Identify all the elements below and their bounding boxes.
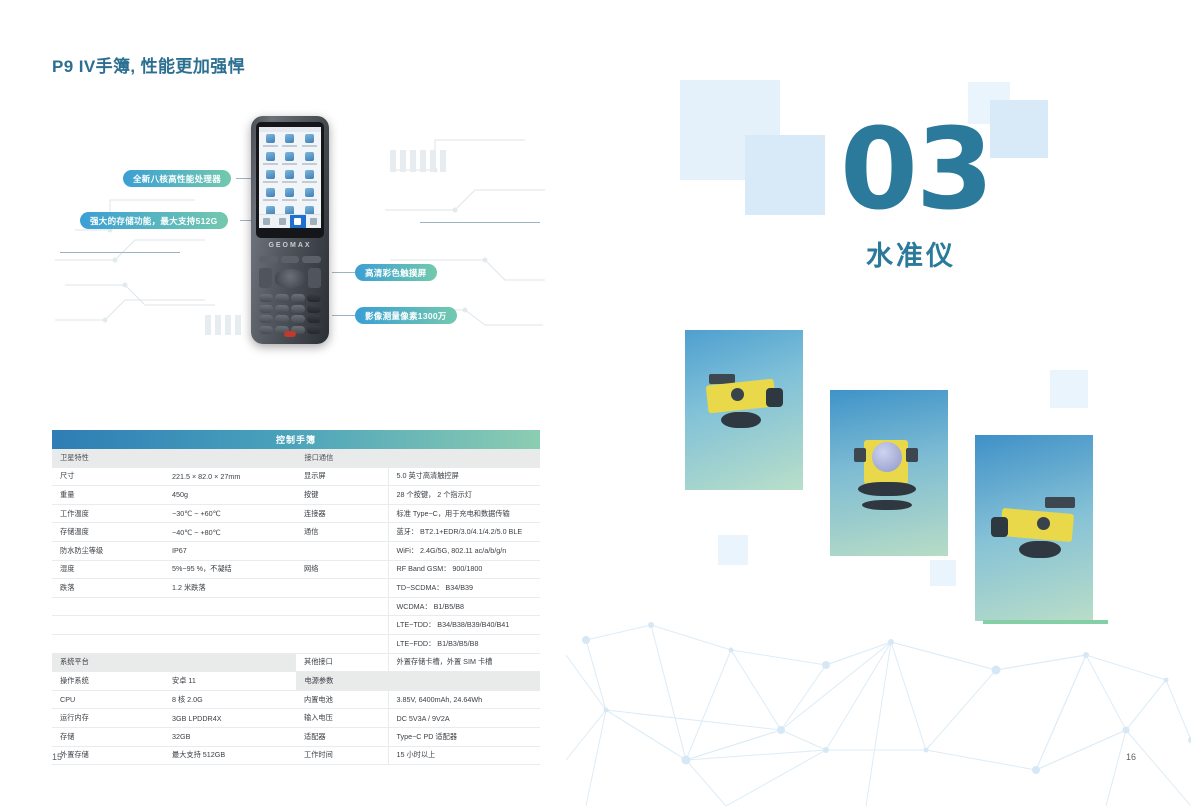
instrument-right-arm xyxy=(906,448,918,462)
instrument-left-arm xyxy=(854,448,866,462)
section-header-row-power: 操作系统 安卓 11 电源参数 xyxy=(52,672,540,691)
spec-key: 内置电池 xyxy=(296,690,388,709)
leader-line-long-left xyxy=(60,252,180,253)
callout-processor: 全新八核高性能处理器 xyxy=(123,170,231,187)
instrument-top-cover xyxy=(1045,497,1075,508)
spec-key xyxy=(52,597,164,616)
network-polygon-graphic xyxy=(566,610,1191,806)
app-icon xyxy=(261,134,280,151)
spec-key: 网络 xyxy=(296,560,388,579)
device-softkey-row xyxy=(259,256,321,263)
app-icon xyxy=(281,170,300,187)
screen-tab-bar xyxy=(259,214,321,228)
spec-value: −30℃ ~ +60℃ xyxy=(164,504,296,523)
spec-value: 32GB xyxy=(164,727,296,746)
page-number-right: 16 xyxy=(1126,752,1136,762)
table-row: 存储温度 −40℃ ~ +80℃ 通信 蓝牙： BT2.1+EDR/3.0/4.… xyxy=(52,523,540,542)
spec-key: 外置存储 xyxy=(52,746,164,765)
instrument-eyepiece xyxy=(766,388,783,407)
section-number: 03 xyxy=(840,122,992,218)
product-photo-level-branded xyxy=(975,435,1093,621)
app-icon xyxy=(261,170,280,187)
table-row: 工作温度 −30℃ ~ +60℃ 连接器 标准 Type−C，用于充电和数据传输 xyxy=(52,504,540,523)
spec-value xyxy=(164,616,296,635)
spec-value: RF Band GSM： 900/1800 xyxy=(388,560,540,579)
app-icon xyxy=(281,152,300,169)
spec-value: TD−SCDMA： B34/B39 xyxy=(388,579,540,598)
specification-table: 控制手簿 卫星特性 接口通信 尺寸 221.5 × 82.0 × 27mm 显示… xyxy=(52,430,540,765)
spec-value: WCDMA： B1/B5/B8 xyxy=(388,597,540,616)
spec-value: LTE−TDD： B34/B38/B39/B40/B41 xyxy=(388,616,540,635)
page-title: P9 IV手簿, 性能更加强悍 xyxy=(52,52,245,77)
table-title: 控制手簿 xyxy=(52,430,540,449)
decorative-square xyxy=(1050,370,1088,408)
spec-key xyxy=(296,597,388,616)
spec-value: 最大支持 512GB xyxy=(164,746,296,765)
spec-value: WiFi： 2.4G/5G, 802.11 ac/a/b/g/n xyxy=(388,541,540,560)
app-icon xyxy=(300,188,319,205)
brochure-spread: P9 IV手簿, 性能更加强悍 xyxy=(0,0,1191,806)
spec-key xyxy=(52,616,164,635)
spec-value: 3GB LPDDR4X xyxy=(164,709,296,728)
table-row: 重量 450g 按键 28 个按键， 2 个指示灯 xyxy=(52,486,540,505)
spec-value: 450g xyxy=(164,486,296,505)
app-icon xyxy=(281,188,300,205)
section-header-row-platform: 系统平台 其他接口 外置存储卡槽，外置 SIM 卡槽 xyxy=(52,653,540,672)
device-brand-label: GEOMAX xyxy=(251,242,329,249)
table-row: LTE−FDD： B1/B3/B5/B8 xyxy=(52,634,540,653)
section-header-row-top: 卫星特性 接口通信 xyxy=(52,449,540,467)
table-row: LTE−TDD： B34/B38/B39/B40/B41 xyxy=(52,616,540,635)
callout-display: 高清彩色触摸屏 xyxy=(355,264,437,281)
instrument-base-front xyxy=(858,482,916,496)
table-row: 尺寸 221.5 × 82.0 × 27mm 显示屏 5.0 英寸高清触控屏 xyxy=(52,467,540,486)
leader-line-long-right xyxy=(420,222,540,223)
device-screen xyxy=(259,127,321,228)
spec-value: 标准 Type−C，用于充电和数据传输 xyxy=(388,504,540,523)
spec-value: 8 核 2.0G xyxy=(164,690,296,709)
section-label-platform: 系统平台 xyxy=(52,653,296,672)
spec-value: 3.85V, 6400mAh, 24.64Wh xyxy=(388,690,540,709)
device-screen-bezel xyxy=(256,122,324,238)
spec-key: 输入电压 xyxy=(296,709,388,728)
spec-value xyxy=(164,597,296,616)
spec-value: Type−C PD 适配器 xyxy=(388,727,540,746)
spec-value: 28 个按键， 2 个指示灯 xyxy=(388,486,540,505)
table-row: WCDMA： B1/B5/B8 xyxy=(52,597,540,616)
callout-storage: 强大的存储功能，最大支持512G xyxy=(80,212,228,229)
spec-key xyxy=(296,541,388,560)
spec-key: 按键 xyxy=(296,486,388,505)
table-row: 防水防尘等级 IP67 WiFi： 2.4G/5G, 802.11 ac/a/b… xyxy=(52,541,540,560)
instrument-objective xyxy=(991,517,1008,537)
spec-key: 工作时间 xyxy=(296,746,388,765)
instrument-focus-knob xyxy=(731,388,744,401)
section-subtitle: 水准仪 xyxy=(866,234,956,273)
spec-key: 运行内存 xyxy=(52,709,164,728)
spec-value: −40℃ ~ +80℃ xyxy=(164,523,296,542)
spec-value: 蓝牙： BT2.1+EDR/3.0/4.1/4.2/5.0 BLE xyxy=(388,523,540,542)
page-number-left: 15 xyxy=(52,752,62,762)
spec-value: 221.5 × 82.0 × 27mm xyxy=(164,467,296,486)
navpad-center xyxy=(275,269,305,288)
spec-key: 湿度 xyxy=(52,560,164,579)
decorative-square xyxy=(930,560,956,586)
table-row: 跌落 1.2 米跌落 TD−SCDMA： B34/B39 xyxy=(52,579,540,598)
spec-table-body: 控制手簿 卫星特性 接口通信 尺寸 221.5 × 82.0 × 27mm 显示… xyxy=(52,430,540,765)
left-page: P9 IV手簿, 性能更加强悍 xyxy=(0,0,595,806)
device-navigation-pad xyxy=(259,268,321,290)
spec-key: 其他接口 xyxy=(296,653,388,672)
instrument-tribrach-base xyxy=(1019,541,1061,558)
spec-value: 5%−95 %，不凝结 xyxy=(164,560,296,579)
spec-key: 操作系统 xyxy=(52,672,164,691)
spec-key: 工作温度 xyxy=(52,504,164,523)
spec-key: 尺寸 xyxy=(52,467,164,486)
decorative-square xyxy=(745,135,825,215)
spec-key: 存储 xyxy=(52,727,164,746)
spec-key: 通信 xyxy=(296,523,388,542)
leader-line-display xyxy=(332,272,356,273)
app-icon xyxy=(261,188,280,205)
table-title-row: 控制手簿 xyxy=(52,430,540,449)
tab-home xyxy=(259,215,275,228)
tab-tools xyxy=(306,215,322,228)
product-photo-level-front xyxy=(830,390,948,556)
spec-key xyxy=(296,634,388,653)
auto-level-instrument-branded xyxy=(987,497,1083,583)
spec-value: 15 小时以上 xyxy=(388,746,540,765)
spec-value: 安卓 11 xyxy=(164,672,296,691)
product-photo-level-side xyxy=(685,330,803,490)
app-icon-grid xyxy=(259,132,321,223)
spec-value: 外置存储卡槽，外置 SIM 卡槽 xyxy=(388,653,540,672)
navpad-left-key xyxy=(259,268,272,288)
tab-projects xyxy=(275,215,291,228)
spec-key xyxy=(296,616,388,635)
instrument-footplate xyxy=(862,500,912,510)
spec-key xyxy=(52,634,164,653)
spec-value: 1.2 米跌落 xyxy=(164,579,296,598)
spec-key: 存储温度 xyxy=(52,523,164,542)
spec-value: IP67 xyxy=(164,541,296,560)
table-row: 运行内存 3GB LPDDR4X 输入电压 DC 5V3A / 9V2A xyxy=(52,709,540,728)
section-label-satellite: 卫星特性 xyxy=(52,449,296,467)
spec-key: 适配器 xyxy=(296,727,388,746)
app-icon xyxy=(300,170,319,187)
app-icon xyxy=(300,134,319,151)
callout-camera: 影像测量像素1300万 xyxy=(355,307,457,324)
leader-line-camera xyxy=(332,315,356,316)
table-row: CPU 8 核 2.0G 内置电池 3.85V, 6400mAh, 24.64W… xyxy=(52,690,540,709)
decorative-square xyxy=(718,535,748,565)
spec-value xyxy=(164,634,296,653)
table-row: 湿度 5%−95 %，不凝结 网络 RF Band GSM： 900/1800 xyxy=(52,560,540,579)
app-icon xyxy=(261,152,280,169)
instrument-tribrach-base xyxy=(721,412,761,428)
handheld-controller-device: GEOMAX xyxy=(251,116,329,344)
spec-value: DC 5V3A / 9V2A xyxy=(388,709,540,728)
section-label-power: 电源参数 xyxy=(296,672,540,691)
spec-value: LTE−FDD： B1/B3/B5/B8 xyxy=(388,634,540,653)
device-power-key xyxy=(284,331,296,337)
app-icon xyxy=(281,134,300,151)
app-icon xyxy=(300,152,319,169)
navpad-right-key xyxy=(308,268,321,288)
spec-key: 连接器 xyxy=(296,504,388,523)
instrument-objective-lens xyxy=(872,442,902,472)
tab-survey-active xyxy=(290,215,306,228)
spec-key: 重量 xyxy=(52,486,164,505)
spec-value: 5.0 英寸高清触控屏 xyxy=(388,467,540,486)
auto-level-instrument-front xyxy=(854,438,926,520)
table-row: 存储 32GB 适配器 Type−C PD 适配器 xyxy=(52,727,540,746)
device-keypad xyxy=(259,294,321,334)
spec-key: 防水防尘等级 xyxy=(52,541,164,560)
spec-key: CPU xyxy=(52,690,164,709)
section-label-interface: 接口通信 xyxy=(296,449,540,467)
spec-key xyxy=(296,579,388,598)
spec-key: 跌落 xyxy=(52,579,164,598)
auto-level-instrument xyxy=(703,372,789,452)
instrument-focus-knob xyxy=(1037,517,1050,530)
table-row: 外置存储 最大支持 512GB 工作时间 15 小时以上 xyxy=(52,746,540,765)
decorative-square xyxy=(990,100,1048,158)
spec-key: 显示屏 xyxy=(296,467,388,486)
